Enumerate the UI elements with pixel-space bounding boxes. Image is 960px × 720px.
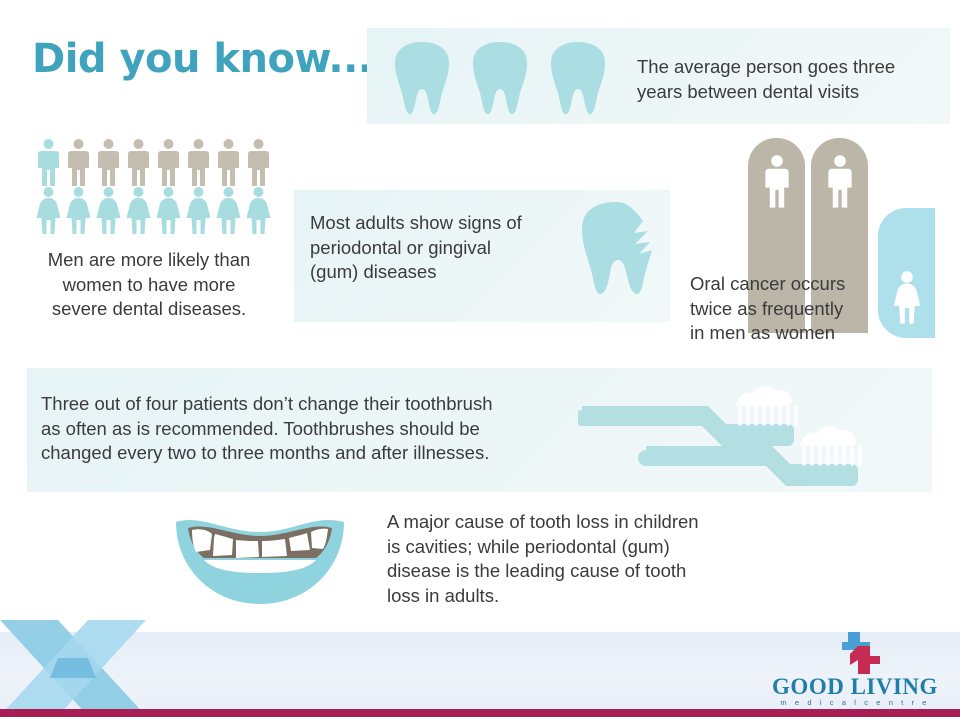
- tooth-icon: [547, 40, 609, 116]
- man-figure-icon: [245, 138, 272, 186]
- women-figure-row: [35, 186, 272, 234]
- x-brand-mark-icon: [0, 620, 161, 716]
- infographic-canvas: Did you know... The average person goes …: [0, 0, 960, 720]
- woman-figure-icon: [125, 186, 152, 234]
- smiling-mouth-icon: [170, 506, 350, 608]
- woman-figure-icon: [155, 186, 182, 234]
- man-figure-icon: [825, 150, 855, 212]
- fact-toothbrush: Three out of four patients don’t change …: [41, 392, 581, 466]
- man-figure-icon: [95, 138, 122, 186]
- chipped-tooth-icon: [570, 196, 666, 316]
- woman-figure-icon: [215, 186, 242, 234]
- people-pictograph: [35, 138, 275, 238]
- tooth-icon: [469, 40, 531, 116]
- man-figure-icon: [65, 138, 92, 186]
- toothbrush-icon-group: [578, 372, 926, 488]
- tooth-icon: [391, 40, 453, 116]
- man-figure-icon: [762, 150, 792, 212]
- woman-figure-icon: [95, 186, 122, 234]
- men-figure-row: [35, 138, 272, 186]
- toothbrush-icon: [578, 386, 796, 446]
- fact-men-severe-disease: Men are more likely than women to have m…: [14, 248, 284, 322]
- woman-figure-icon: [185, 186, 212, 234]
- man-figure-icon: [35, 138, 62, 186]
- medical-cross-icon: [828, 630, 884, 674]
- woman-figure-icon: [35, 186, 62, 234]
- fact-dental-visits: The average person goes three years betw…: [637, 55, 937, 104]
- fact-tooth-loss: A major cause of tooth loss in children …: [387, 510, 757, 608]
- man-figure-icon: [185, 138, 212, 186]
- woman-figure-icon: [245, 186, 272, 234]
- man-figure-icon: [125, 138, 152, 186]
- brand-logo: GOOD LIVING m e d i c a l c e n t r e: [766, 630, 944, 708]
- fact-oral-cancer: Oral cancer occurs twice as frequently i…: [690, 272, 940, 346]
- fact-periodontal: Most adults show signs of periodontal or…: [310, 211, 580, 285]
- man-figure-icon: [215, 138, 242, 186]
- man-figure-icon: [155, 138, 182, 186]
- logo-wordmark: GOOD LIVING: [766, 674, 944, 700]
- tooth-icon-group: [391, 40, 609, 116]
- logo-tagline: m e d i c a l c e n t r e: [766, 698, 944, 707]
- page-title: Did you know...: [32, 36, 372, 82]
- woman-figure-icon: [65, 186, 92, 234]
- footer-accent-rule: [0, 709, 960, 717]
